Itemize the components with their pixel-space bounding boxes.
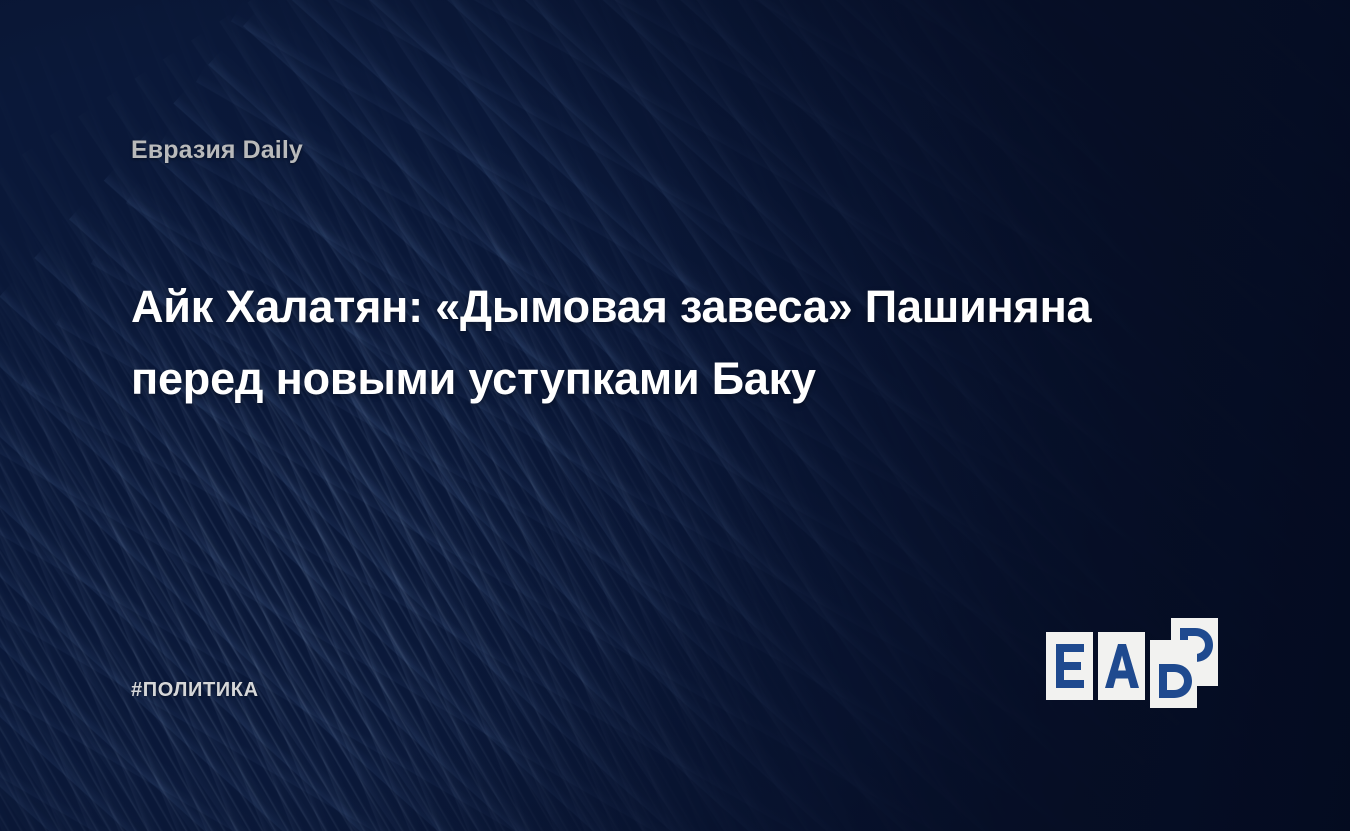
logo-tile-d-lower — [1150, 640, 1197, 708]
headline: Айк Халатян: «Дымовая завеса» Пашиняна п… — [131, 271, 1131, 415]
logo-tile-e — [1046, 632, 1093, 700]
logo-tile-a — [1098, 632, 1145, 700]
eadaily-logo[interactable] — [1046, 618, 1232, 708]
news-card: Евразия Daily Айк Халатян: «Дымовая заве… — [0, 0, 1350, 831]
brand-wordmark: Евразия Daily — [131, 136, 303, 165]
category-tag[interactable]: #ПОЛИТИКА — [131, 679, 259, 702]
card-content: Евразия Daily Айк Халатян: «Дымовая заве… — [0, 0, 1350, 831]
